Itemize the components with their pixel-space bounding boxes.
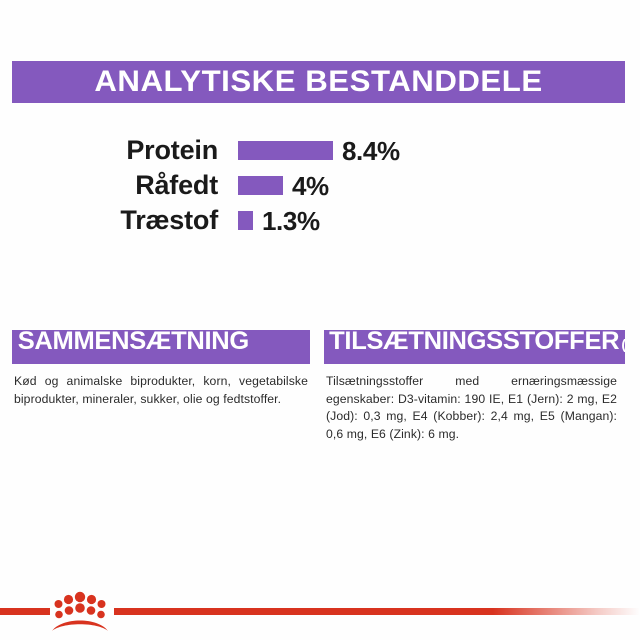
- nutrient-bar-fill-traestof: [238, 211, 253, 230]
- composition-header: SAMMENSÆTNING: [12, 330, 310, 364]
- footer-rule-left: [0, 608, 50, 615]
- nutrient-label-raafedt: Råfedt: [12, 172, 218, 199]
- analytical-constituents-title: ANALYTISKE BESTANDDELE: [94, 67, 542, 97]
- additives-title-unit: (pr. kg): [621, 336, 625, 352]
- nutrient-value-raafedt: 4%: [292, 173, 329, 199]
- analytical-constituents-header: ANALYTISKE BESTANDDELE: [12, 61, 625, 103]
- footer-rule-right: [114, 608, 640, 615]
- nutrient-bar-track-traestof: 1.3%: [238, 208, 320, 234]
- composition-section: SAMMENSÆTNING Kød og animalske biprodukt…: [12, 330, 310, 444]
- nutrient-value-traestof: 1.3%: [262, 208, 320, 234]
- nutrient-value-protein: 8.4%: [342, 138, 400, 164]
- details-columns: SAMMENSÆTNING Kød og animalske biprodukt…: [12, 330, 625, 444]
- nutrient-bar-chart: Protein 8.4% Råfedt 4% Træstof 1.3%: [12, 133, 625, 238]
- nutrient-row: Råfedt 4%: [12, 168, 625, 203]
- nutrient-bar-track-protein: 8.4%: [238, 138, 400, 164]
- additives-section: TILSÆTNINGSSTOFFER (pr. kg) Tilsætningss…: [324, 330, 625, 444]
- nutrient-row: Protein 8.4%: [12, 133, 625, 168]
- composition-body-text: Kød og animalske biprodukter, korn, vege…: [12, 364, 310, 408]
- composition-title: SAMMENSÆTNING: [18, 330, 249, 354]
- footer-brand-bar: [0, 588, 640, 640]
- royal-canin-crown-icon: [46, 590, 114, 636]
- additives-header: TILSÆTNINGSSTOFFER (pr. kg): [324, 330, 625, 364]
- product-info-panel: ANALYTISKE BESTANDDELE Protein 8.4% Råfe…: [0, 0, 640, 640]
- nutrient-bar-fill-raafedt: [238, 176, 283, 195]
- nutrient-row: Træstof 1.3%: [12, 203, 625, 238]
- analytical-constituents-section: ANALYTISKE BESTANDDELE Protein 8.4% Råfe…: [12, 61, 625, 103]
- additives-title: TILSÆTNINGSSTOFFER: [329, 330, 619, 354]
- nutrient-label-protein: Protein: [12, 137, 218, 164]
- nutrient-bar-track-raafedt: 4%: [238, 173, 329, 199]
- nutrient-bar-fill-protein: [238, 141, 333, 160]
- nutrient-label-traestof: Træstof: [12, 207, 218, 234]
- additives-body-text: Tilsætningsstoffer med ernæringsmæssige …: [324, 364, 625, 444]
